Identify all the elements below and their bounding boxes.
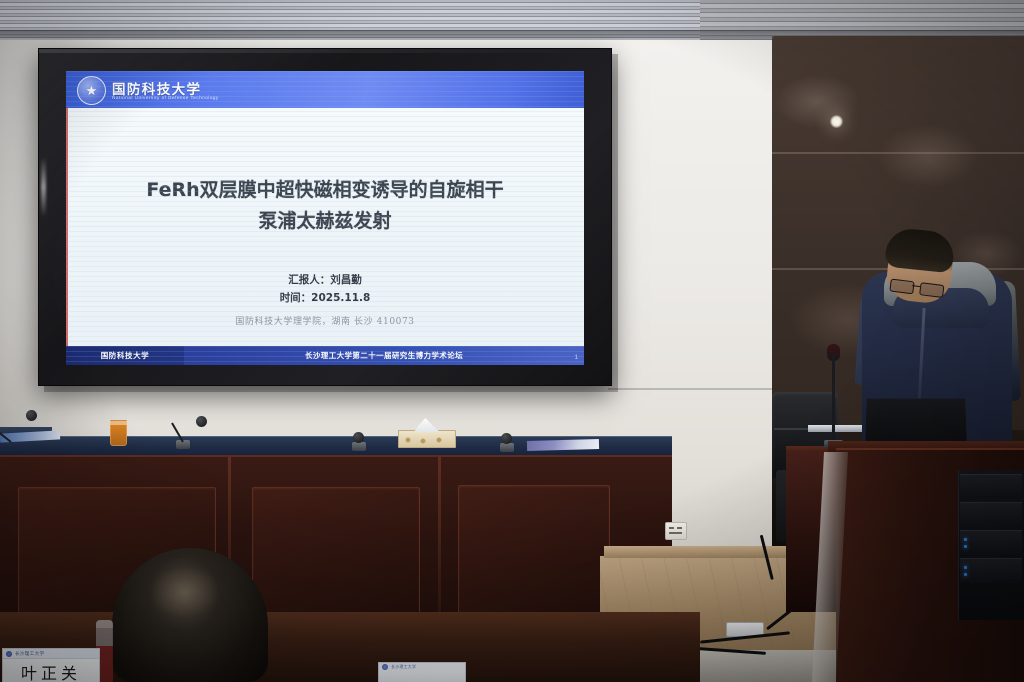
wall-light-reflection-icon: [830, 115, 843, 128]
star-icon: ★: [86, 84, 98, 97]
rack-status-led: [964, 573, 967, 576]
slide-footer-center: 长沙理工大学第二十一届研究生博力学术论坛: [184, 346, 584, 365]
amber-tea-cup[interactable]: [110, 420, 127, 446]
documents-stack[interactable]: [527, 439, 599, 451]
slide-presenter-block: 汇报人：刘昌勤 时间：2025.11.8: [90, 271, 560, 307]
outlet-slot: [669, 527, 674, 529]
slide-org-name-en: National University of Defense Technolog…: [112, 95, 219, 100]
university-emblem-icon: ★: [77, 76, 106, 105]
floor-baseboard: [604, 546, 790, 558]
slide-footer-left-text: 国防科技大学: [101, 350, 150, 361]
rack-status-led: [964, 545, 967, 548]
placard-logo-icon: [382, 664, 388, 670]
slide-title-line-2: 泵浦太赫兹发射: [90, 206, 560, 237]
tissue-box[interactable]: [398, 430, 456, 448]
tissue-box-pattern: [399, 431, 455, 447]
projector-screen[interactable]: ★ 国防科技大学 National University of Defense …: [38, 48, 612, 386]
slide-header-bar: ★ 国防科技大学 National University of Defense …: [66, 71, 584, 108]
slide-presenter-name: 汇报人：刘昌勤: [90, 271, 560, 289]
rack-status-led: [964, 566, 967, 569]
mic-base: [352, 442, 366, 451]
audience-head-highlight: [150, 566, 220, 618]
laptop-computer[interactable]: [865, 399, 967, 445]
slide-footer-bar: 国防科技大学 长沙理工大学第二十一届研究生博力学术论坛 1: [66, 346, 584, 365]
frame-glint: [41, 157, 46, 217]
marble-seam-upper: [772, 152, 1024, 154]
slide-title: FeRh双层膜中超快磁相变诱导的自旋相干 泵浦太赫兹发射: [90, 175, 560, 237]
slide-accent-line: [66, 71, 68, 365]
slide-footer-center-text: 长沙理工大学第二十一届研究生博力学术论坛: [305, 350, 463, 361]
mic-head-icon: [26, 410, 37, 421]
mic-head-icon: [353, 432, 364, 443]
placard-logo-icon: [6, 651, 12, 657]
slide-affiliation: 国防科技大学理学院，湖南 长沙 410073: [90, 314, 560, 327]
slide-page-number: 1: [575, 355, 578, 361]
conference-room-scene: ★ 国防科技大学 National University of Defense …: [0, 0, 1024, 682]
rack-unit[interactable]: [960, 502, 1022, 527]
mic-head-icon: [501, 433, 512, 444]
rack-unit[interactable]: [960, 530, 1022, 555]
rack-unit[interactable]: [960, 474, 1022, 499]
name-placard-left: 长沙理工大学 叶正关: [2, 648, 100, 682]
wall-power-outlet[interactable]: [665, 522, 687, 540]
slide-date: 时间：2025.11.8: [90, 289, 560, 307]
mic-base: [500, 443, 514, 452]
placard-name-text: 叶正关: [3, 660, 99, 682]
glasses-lens-right: [919, 282, 944, 298]
outlet-slot: [677, 527, 682, 529]
glasses-lens-left: [889, 279, 914, 295]
name-placard-center: 长沙理工大学: [378, 662, 466, 682]
slide-title-line-1: FeRh双层膜中超快磁相变诱导的自旋相干: [90, 175, 560, 206]
frame-highlight: [39, 49, 611, 53]
mic-neck: [832, 356, 835, 442]
rack-unit[interactable]: [960, 558, 1022, 583]
placard-org-text: 长沙理工大学: [391, 664, 416, 670]
outlet-slot: [669, 532, 682, 534]
mic-head-icon: [196, 416, 207, 427]
slide-footer-left: 国防科技大学: [66, 346, 184, 365]
presentation-slide: ★ 国防科技大学 National University of Defense …: [66, 71, 584, 365]
rack-status-led: [964, 538, 967, 541]
wall-seam: [608, 388, 790, 390]
desk-nameplate: [808, 425, 866, 432]
placard-org-text: 长沙理工大学: [15, 651, 44, 657]
